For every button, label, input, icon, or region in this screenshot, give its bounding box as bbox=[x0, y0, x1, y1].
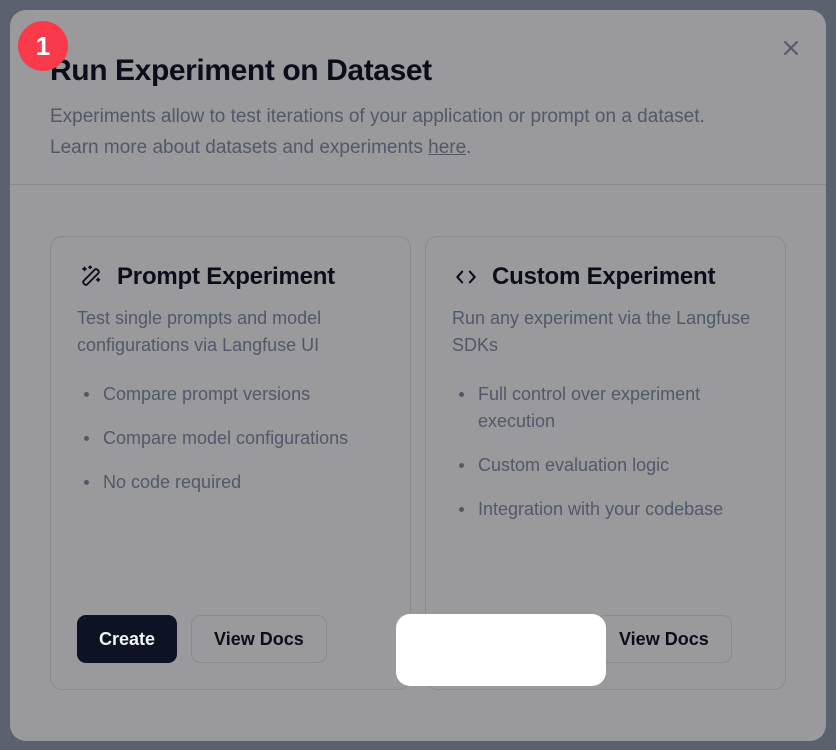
list-item: Compare model configurations bbox=[77, 425, 384, 452]
card-prompt-experiment[interactable]: Prompt Experiment Test single prompts an… bbox=[50, 236, 411, 690]
modal-description: Experiments allow to test iterations of … bbox=[50, 101, 750, 163]
code-icon bbox=[452, 263, 480, 291]
card-title: Prompt Experiment bbox=[117, 263, 335, 291]
modal-description-text: Experiments allow to test iterations of … bbox=[50, 106, 705, 158]
modal-overlay: Run Experiment on Dataset Experiments al… bbox=[0, 0, 836, 750]
view-docs-button-custom[interactable]: View Docs bbox=[596, 615, 732, 663]
list-item: Compare prompt versions bbox=[77, 381, 384, 408]
modal-description-period: . bbox=[466, 137, 471, 158]
close-button[interactable] bbox=[773, 30, 809, 66]
card-title: Custom Experiment bbox=[492, 263, 715, 291]
create-button[interactable]: Create bbox=[77, 615, 177, 663]
list-item: Custom evaluation logic bbox=[452, 452, 759, 479]
view-docs-button-prompt[interactable]: View Docs bbox=[191, 615, 327, 663]
card-description: Run any experiment via the Langfuse SDKs bbox=[452, 305, 759, 359]
card-description: Test single prompts and model configurat… bbox=[77, 305, 384, 359]
feature-list: Compare prompt versions Compare model co… bbox=[77, 381, 384, 496]
learn-more-link[interactable]: here bbox=[428, 137, 466, 158]
feature-list: Full control over experiment execution C… bbox=[452, 381, 759, 523]
list-item: Full control over experiment execution bbox=[452, 381, 759, 435]
card-header: Prompt Experiment bbox=[77, 263, 384, 291]
close-icon bbox=[781, 38, 801, 58]
list-item: No code required bbox=[77, 469, 384, 496]
magic-wand-icon bbox=[77, 263, 105, 291]
modal-header: Run Experiment on Dataset Experiments al… bbox=[10, 10, 826, 185]
page-title: Run Experiment on Dataset bbox=[50, 54, 432, 88]
card-header: Custom Experiment bbox=[452, 263, 759, 291]
card-actions: Create View Docs bbox=[77, 615, 327, 663]
run-experiment-modal: Run Experiment on Dataset Experiments al… bbox=[10, 10, 826, 741]
annotation-highlight bbox=[396, 614, 606, 686]
list-item: Integration with your codebase bbox=[452, 496, 759, 523]
annotation-badge-1: 1 bbox=[18, 21, 68, 71]
